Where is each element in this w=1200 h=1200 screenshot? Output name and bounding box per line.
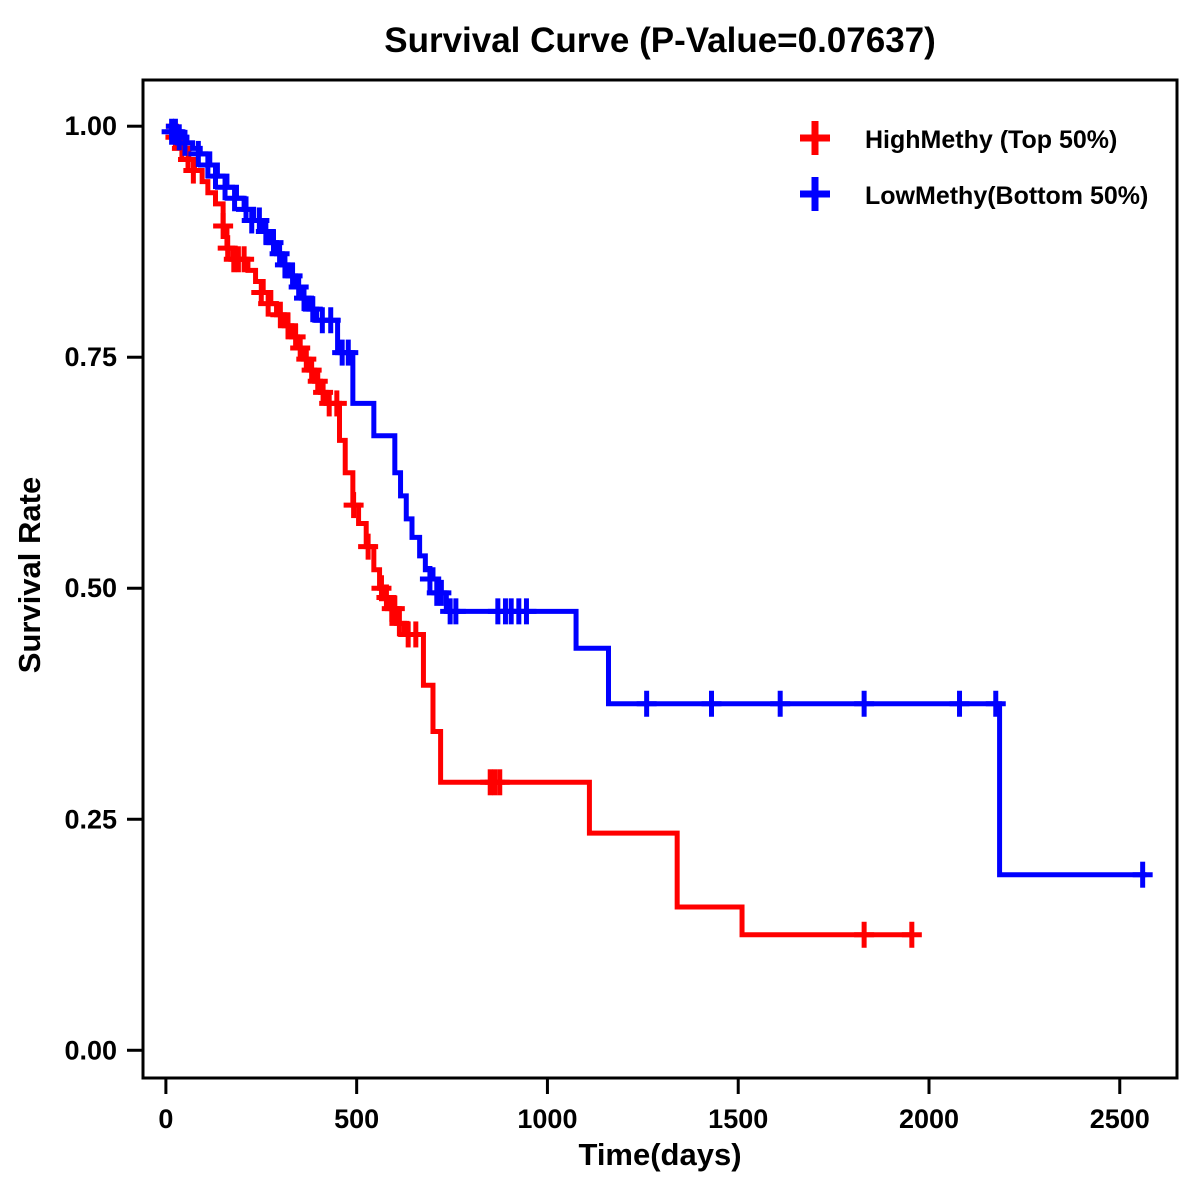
x-tick-label: 0 (158, 1104, 173, 1134)
y-tick-label: 0.75 (64, 342, 117, 372)
chart-title: Survival Curve (P-Value=0.07637) (384, 21, 936, 60)
y-tick-label: 1.00 (64, 111, 117, 141)
x-tick-label: 2500 (1090, 1104, 1150, 1134)
chart-background (0, 0, 1200, 1200)
survival-chart-page: Survival Curve (P-Value=0.07637) 0.000.2… (0, 0, 1200, 1200)
x-tick-label: 2000 (899, 1104, 959, 1134)
survival-curve-chart: Survival Curve (P-Value=0.07637) 0.000.2… (0, 0, 1200, 1200)
legend-label: LowMethy(Bottom 50%) (865, 182, 1148, 210)
y-axis-label: Survival Rate (12, 477, 47, 673)
x-tick-label: 1500 (708, 1104, 768, 1134)
x-tick-label: 500 (334, 1104, 379, 1134)
legend-label: HighMethy (Top 50%) (865, 126, 1117, 154)
x-tick-label: 1000 (517, 1104, 577, 1134)
x-axis-label: Time(days) (578, 1137, 741, 1172)
y-tick-label: 0.50 (64, 573, 117, 603)
y-tick-label: 0.25 (64, 804, 117, 834)
y-tick-label: 0.00 (64, 1035, 117, 1065)
